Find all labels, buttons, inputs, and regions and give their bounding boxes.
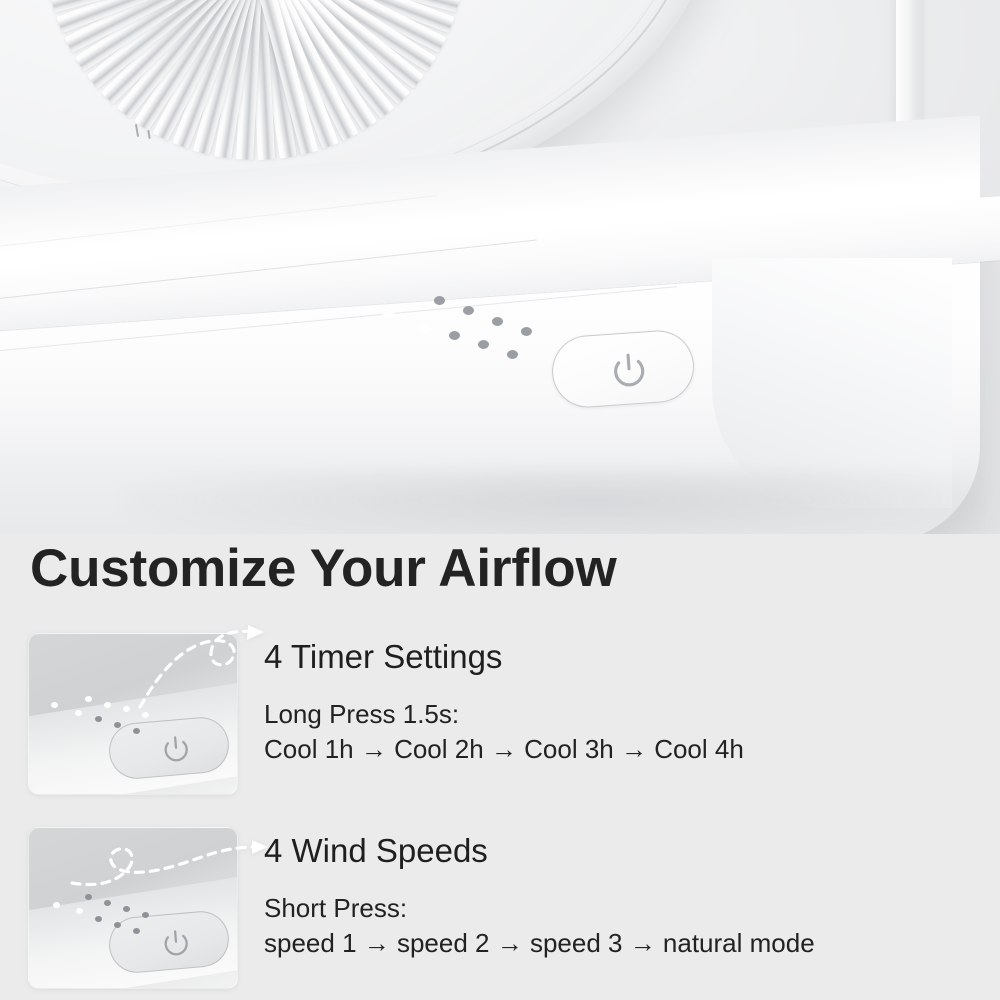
- thumbnail-led: [75, 710, 82, 716]
- content-section: Customize Your Airflow: [0, 520, 1000, 1000]
- feature-title: 4 Timer Settings: [264, 639, 744, 675]
- led-indicator: [419, 324, 430, 333]
- control-panel-short-press-thumbnail[interactable]: [28, 827, 238, 989]
- feature-instruction: Short Press:: [264, 891, 815, 926]
- feature-text-block: 4 Wind Speeds Short Press: speed 1 → spe…: [264, 827, 815, 961]
- thumbnail-led: [133, 728, 140, 734]
- thumbnail-image: [28, 633, 238, 795]
- product-feature-graphic: Customize Your Airflow: [0, 0, 1000, 1000]
- thumbnail-image: [28, 827, 238, 989]
- power-icon: [161, 733, 191, 763]
- thumbnail-led: [123, 906, 130, 912]
- feature-row-wind-speeds: 4 Wind Speeds Short Press: speed 1 → spe…: [28, 827, 972, 989]
- thumbnail-led: [76, 908, 83, 914]
- feature-sequence: Cool 1h → Cool 2h → Cool 3h → Cool 4h: [264, 732, 744, 767]
- thumbnail-led: [95, 716, 102, 722]
- thumbnail-led: [85, 894, 92, 900]
- thumbnail-led: [133, 928, 140, 934]
- product-photo: [0, 0, 1000, 534]
- thumbnail-led: [51, 702, 58, 708]
- thumbnail-led: [104, 702, 111, 708]
- power-button[interactable]: [550, 328, 697, 410]
- thumbnail-led: [104, 900, 111, 906]
- led-indicator: [383, 310, 394, 319]
- feature-title: 4 Wind Speeds: [264, 833, 815, 869]
- thumbnail-led: [95, 916, 102, 922]
- feature-sequence: speed 1 → speed 2 → speed 3 → natural mo…: [264, 926, 815, 961]
- page-title: Customize Your Airflow: [30, 538, 617, 599]
- led-indicator: [449, 331, 460, 340]
- led-indicator: [521, 327, 532, 336]
- thumbnail-led: [114, 922, 121, 928]
- thumbnail-led: [53, 902, 60, 908]
- power-icon: [161, 927, 191, 957]
- led-indicator: [434, 296, 445, 305]
- led-indicator: [507, 350, 518, 359]
- feature-instruction: Long Press 1.5s:: [264, 697, 744, 732]
- thumbnail-led: [123, 706, 130, 712]
- thumbnail-led: [85, 696, 92, 702]
- feature-row-timer-settings: 4 Timer Settings Long Press 1.5s: Cool 1…: [28, 633, 972, 795]
- led-indicator: [463, 306, 474, 315]
- power-icon: [610, 350, 648, 388]
- feature-text-block: 4 Timer Settings Long Press 1.5s: Cool 1…: [264, 633, 744, 767]
- led-indicator: [478, 340, 489, 349]
- control-panel-long-press-thumbnail[interactable]: [28, 633, 238, 795]
- thumbnail-led: [142, 912, 149, 918]
- thumbnail-led: [114, 722, 121, 728]
- thumbnail-led: [142, 712, 149, 718]
- led-indicator: [492, 317, 503, 326]
